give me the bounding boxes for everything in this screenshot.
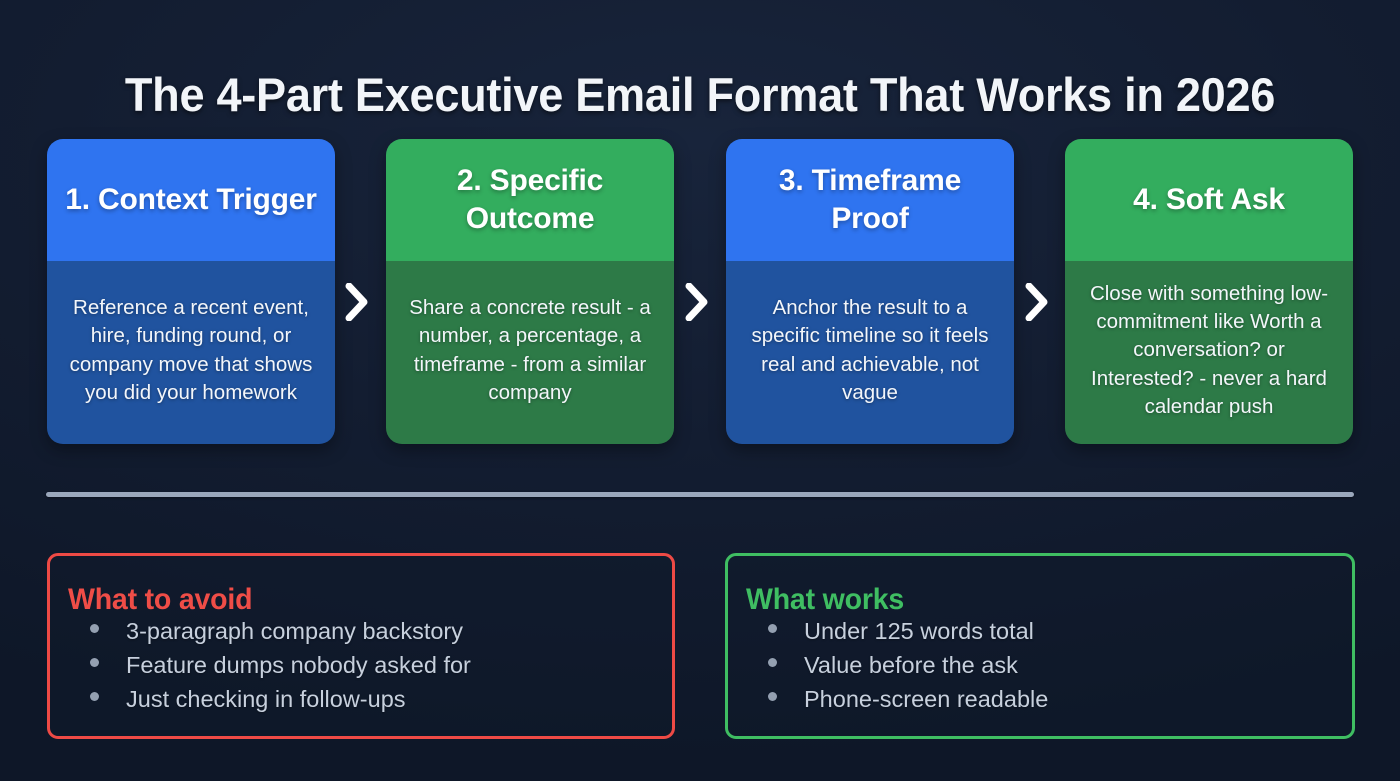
step-card-specific-outcome: 2. Specific Outcome Share a concrete res… xyxy=(386,139,674,444)
step-card-header: 2. Specific Outcome xyxy=(386,139,674,261)
chevron-right-icon xyxy=(1021,282,1053,322)
callout-what-works: What works Under 125 words total Value b… xyxy=(725,553,1355,739)
step-card-context-trigger: 1. Context Trigger Reference a recent ev… xyxy=(47,139,335,444)
step-card-timeframe-proof: 3. Timeframe Proof Anchor the result to … xyxy=(726,139,1014,444)
callout-list: 3-paragraph company backstory Feature du… xyxy=(68,618,471,720)
list-item: Phone-screen readable xyxy=(746,686,1048,720)
list-item-label: Just checking in follow-ups xyxy=(126,686,406,713)
bullet-icon xyxy=(768,692,777,701)
step-card-heading: 3. Timeframe Proof xyxy=(740,162,1000,238)
step-card-body: Anchor the result to a specific timeline… xyxy=(726,261,1014,444)
bullet-icon xyxy=(768,658,777,667)
step-card-heading: 1. Context Trigger xyxy=(65,181,316,219)
step-card-description: Close with something low-commitment like… xyxy=(1081,280,1337,421)
list-item: Just checking in follow-ups xyxy=(68,686,471,720)
bullet-icon xyxy=(90,624,99,633)
step-card-header: 1. Context Trigger xyxy=(47,139,335,261)
step-card-body: Close with something low-commitment like… xyxy=(1065,261,1353,444)
section-divider xyxy=(46,492,1354,497)
step-card-header: 3. Timeframe Proof xyxy=(726,139,1014,261)
list-item: Under 125 words total xyxy=(746,618,1048,652)
step-card-heading: 2. Specific Outcome xyxy=(400,162,660,238)
step-card-description: Share a concrete result - a number, a pe… xyxy=(402,294,658,407)
callout-what-to-avoid: What to avoid 3-paragraph company backst… xyxy=(47,553,675,739)
list-item: Feature dumps nobody asked for xyxy=(68,652,471,686)
step-card-body: Reference a recent event, hire, funding … xyxy=(47,261,335,444)
step-card-body: Share a concrete result - a number, a pe… xyxy=(386,261,674,444)
callout-title: What to avoid xyxy=(68,583,252,617)
step-card-description: Anchor the result to a specific timeline… xyxy=(742,294,998,407)
callout-title: What works xyxy=(746,583,904,617)
list-item-label: Feature dumps nobody asked for xyxy=(126,652,471,679)
list-item-label: Phone-screen readable xyxy=(804,686,1048,713)
step-card-header: 4. Soft Ask xyxy=(1065,139,1353,261)
step-card-description: Reference a recent event, hire, funding … xyxy=(63,294,319,407)
list-item-label: Value before the ask xyxy=(804,652,1018,679)
step-card-heading: 4. Soft Ask xyxy=(1133,181,1285,219)
list-item: 3-paragraph company backstory xyxy=(68,618,471,652)
page-title: The 4-Part Executive Email Format That W… xyxy=(28,67,1372,122)
bullet-icon xyxy=(768,624,777,633)
list-item-label: Under 125 words total xyxy=(804,618,1034,645)
list-item-label: 3-paragraph company backstory xyxy=(126,618,463,645)
chevron-right-icon xyxy=(341,282,373,322)
infographic-root: The 4-Part Executive Email Format That W… xyxy=(0,0,1400,781)
chevron-right-icon xyxy=(681,282,713,322)
list-item: Value before the ask xyxy=(746,652,1048,686)
bullet-icon xyxy=(90,692,99,701)
step-card-soft-ask: 4. Soft Ask Close with something low-com… xyxy=(1065,139,1353,444)
callout-list: Under 125 words total Value before the a… xyxy=(746,618,1048,720)
bullet-icon xyxy=(90,658,99,667)
